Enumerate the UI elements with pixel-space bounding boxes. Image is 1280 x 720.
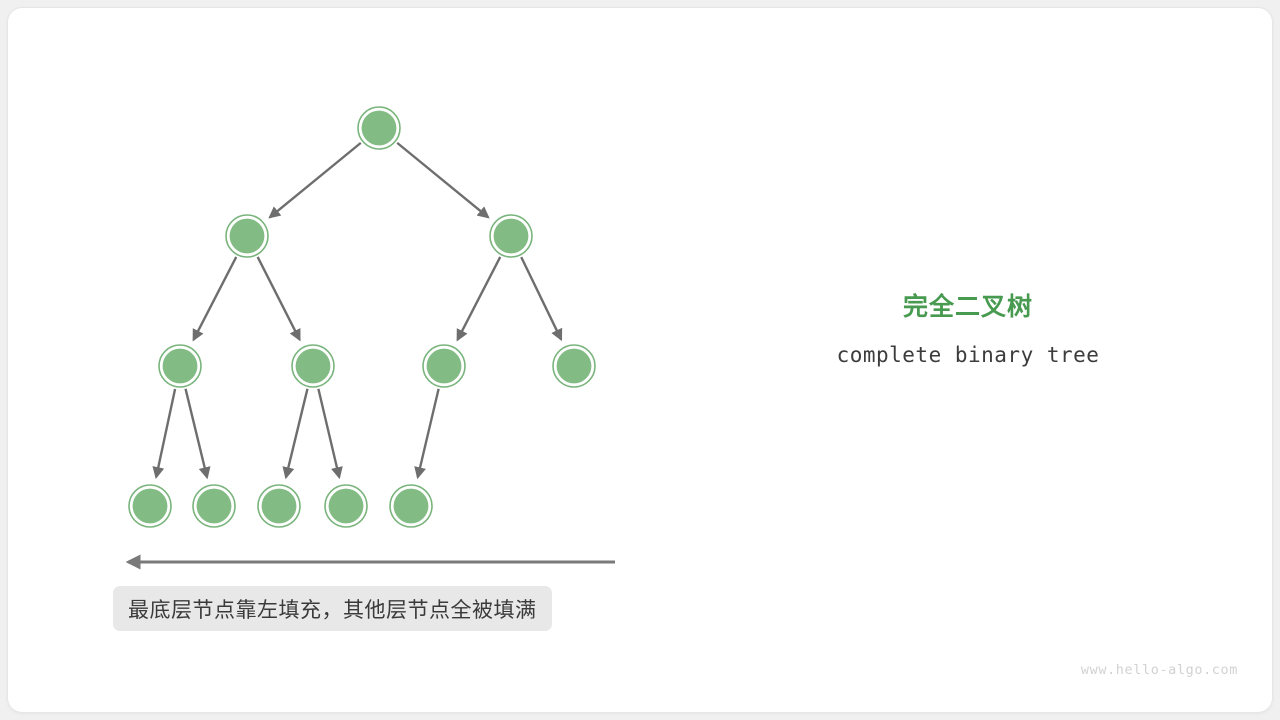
tree-node [490,215,532,257]
tree-edge [270,143,361,217]
legend-block: 完全二叉树 complete binary tree [760,292,1176,368]
tree-node [292,345,334,387]
tree-node [553,345,595,387]
tree-node [258,485,300,527]
tree-edge [156,389,175,477]
tree-node-fill [262,489,297,524]
tree-node-fill [362,111,397,146]
tree-node-fill [133,489,168,524]
tree-node-fill [197,489,232,524]
diagram-canvas: 完全二叉树 complete binary tree 最底层节点靠左填充，其他层… [0,0,1280,720]
page-title: 完全二叉树 [760,292,1176,323]
tree-edge [318,389,339,477]
watermark: www.hello-algo.com [1081,662,1238,678]
tree-edge [397,143,488,217]
tree-edge [286,389,307,477]
tree-node-fill [163,349,198,384]
tree-node [193,485,235,527]
tree-node-fill [296,349,331,384]
tree-edge [258,257,300,340]
tree-node [423,345,465,387]
tree-edge [194,257,237,340]
tree-edge [186,389,207,477]
tree-node [159,345,201,387]
tree-node [226,215,268,257]
tree-node [325,485,367,527]
tree-node-layer [129,107,595,527]
page-subtitle: complete binary tree [760,343,1176,368]
tree-node [358,107,400,149]
tree-node-fill [230,219,265,254]
tree-node [129,485,171,527]
caption-badge: 最底层节点靠左填充，其他层节点全被填满 [113,586,552,631]
tree-edge-layer [156,143,561,477]
tree-node-fill [329,489,364,524]
tree-node-fill [394,489,429,524]
tree-node [390,485,432,527]
tree-node-fill [494,219,529,254]
caption-text: 最底层节点靠左填充，其他层节点全被填满 [128,594,537,624]
tree-edge [418,389,439,477]
tree-node-fill [427,349,462,384]
tree-node-fill [557,349,592,384]
tree-edge [521,257,561,339]
tree-edge [458,257,501,340]
